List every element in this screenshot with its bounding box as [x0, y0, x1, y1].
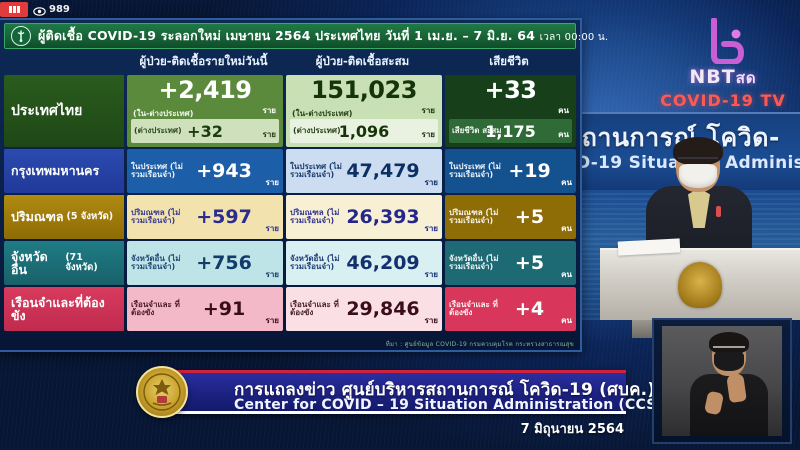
table-row-prisons: เรือนจำและที่ต้องขัง เรือนจำและ ที่ต้องข…	[4, 287, 576, 331]
live-badge	[0, 2, 28, 17]
ministry-health-emblem-icon	[11, 26, 31, 46]
value-other-total: 46,209	[344, 252, 422, 274]
unit-prisons-total: ราย	[422, 314, 438, 329]
presenter-glasses	[678, 157, 718, 164]
cell-other-deaths: จังหวัดอื่น (ไม่รวมเรือนจำ) +5 คน	[445, 241, 576, 285]
cell-thailand-total-bottom: (ต่างประเทศ) 1,096 ราย	[290, 119, 438, 143]
column-header-total-cases: ผู้ป่วย-ติดเชื้อสะสม	[283, 53, 442, 71]
value-other-deaths: +5	[503, 252, 556, 274]
presenter-face-mask	[679, 164, 717, 188]
cell-other-total: จังหวัดอื่น (ไม่รวมเรือนจำ) 46,209 ราย	[286, 241, 442, 285]
lower-third-banner: การแถลงข่าว ศูนย์บริหารสถานการณ์ โควิด-1…	[128, 370, 626, 422]
value-thailand-new: +2,419	[131, 76, 279, 104]
nbt-logo-text: NBTสด	[658, 66, 788, 90]
cell-other-new: จังหวัดอื่น (ไม่รวมเรือนจำ) +756 ราย	[127, 241, 283, 285]
table-row-perimeter: ปริมณฑล (5 จังหวัด) ปริมณฑล (ไม่รวมเรือน…	[4, 195, 576, 239]
podium	[600, 248, 800, 320]
unit-thailand-new: ราย	[263, 104, 276, 117]
view-count-label: 989	[49, 4, 70, 15]
panel-title-time: เวลา 00:00 น.	[540, 32, 609, 43]
cell-prisons-new: เรือนจำและ ที่ต้องขัง +91 ราย	[127, 287, 283, 331]
podium-papers	[618, 238, 681, 255]
sign-language-interpreter-inset	[652, 318, 792, 444]
eye-icon	[33, 3, 46, 16]
unit-prisons-new: ราย	[263, 314, 279, 329]
cell-prisons-total: เรือนจำและ ที่ต้องขัง 29,846 ราย	[286, 287, 442, 331]
row-label-perimeter-note: (5 จังหวัด)	[67, 212, 114, 222]
value-bangkok-total: 47,479	[344, 160, 422, 182]
cell-perimeter-new: ปริมณฑล (ไม่รวมเรือนจำ) +597 ราย	[127, 195, 283, 239]
sublabel-prisons-new: เรือนจำและ ที่ต้องขัง	[131, 301, 185, 318]
broadcast-screen: สถานการณ์ โควิด- VID-19 Situation Admini…	[0, 0, 800, 450]
row-label-thailand: ประเทศไทย	[4, 75, 124, 147]
signer-face-mask	[714, 352, 744, 371]
panel-title-main: ผู้ติดเชื้อ COVID-19 ระลอกใหม่ เมษายน 25…	[38, 28, 535, 43]
value-other-new: +756	[185, 252, 263, 274]
row-label-prisons-text: เรือนจำและที่ต้องขัง	[11, 296, 117, 322]
value-perimeter-total: 26,393	[344, 206, 422, 228]
value-bangkok-deaths: +19	[503, 160, 556, 182]
table-row-other-provinces: จังหวัดอื่น (71 จังหวัด) จังหวัดอื่น (ไม…	[4, 241, 576, 285]
sublabel-thailand-total: (ใน-ต่างประเทศ)	[292, 110, 352, 118]
lower-third-bar: การแถลงข่าว ศูนย์บริหารสถานการณ์ โควิด-1…	[172, 370, 626, 414]
panel-title: ผู้ติดเชื้อ COVID-19 ระลอกใหม่ เมษายน 25…	[38, 26, 608, 46]
cell-thailand-total: 151,023 (ใน-ต่างประเทศ) ราย (ต่างประเทศ)…	[286, 75, 442, 147]
sublabel-perimeter-new: ปริมณฑล (ไม่รวมเรือนจำ)	[131, 209, 185, 226]
value-perimeter-deaths: +5	[503, 206, 556, 228]
row-label-bangkok-text: กรุงเทพมหานคร	[11, 164, 99, 177]
sublabel-other-total: จังหวัดอื่น (ไม่รวมเรือนจำ)	[290, 255, 344, 272]
table-row-thailand: ประเทศไทย +2,419 (ใน-ต่างประเทศ) ราย (ต่…	[4, 75, 576, 147]
value-prisons-deaths: +4	[503, 298, 556, 320]
nbt-mark-icon	[694, 18, 752, 64]
cell-bangkok-deaths: ในประเทศ (ไม่รวมเรือนจำ) +19 คน	[445, 149, 576, 193]
row-label-other-provinces: จังหวัดอื่น (71 จังหวัด)	[4, 241, 124, 285]
covid-statistics-panel: ผู้ติดเชื้อ COVID-19 ระลอกใหม่ เมษายน 25…	[0, 18, 582, 352]
unit-perimeter-new: ราย	[263, 222, 279, 237]
value-thailand-new-abroad: +32	[131, 122, 279, 141]
nbt-logo-suffix: สด	[736, 69, 757, 87]
value-bangkok-new: +943	[185, 160, 263, 182]
column-header-deaths: เสียชีวิต	[442, 53, 576, 71]
unit-bangkok-new: ราย	[263, 176, 279, 191]
cell-thailand-new-top: +2,419 (ใน-ต่างประเทศ) ราย	[131, 77, 279, 119]
row-label-perimeter-text: ปริมณฑล	[11, 210, 64, 223]
cell-thailand-new-bottom: (ต่างประเทศ) +32 ราย	[131, 119, 279, 143]
unit-perimeter-deaths: คน	[556, 222, 572, 237]
cell-thailand-deaths-top: +33 คน	[449, 77, 572, 119]
unit-thailand-total: ราย	[422, 104, 435, 117]
sublabel-bangkok-deaths: ในประเทศ (ไม่รวมเรือนจำ)	[449, 163, 503, 180]
value-thailand-total-abroad: 1,096	[290, 122, 438, 141]
sublabel-perimeter-deaths: ปริมณฑล (ไม่รวมเรือนจำ)	[449, 209, 503, 226]
unit-thailand-deaths-total: คน	[558, 128, 569, 141]
nbt-logo-subtitle: COVID-19 TV	[658, 91, 788, 110]
value-thailand-deaths-total: 1,175	[449, 122, 572, 141]
row-label-perimeter: ปริมณฑล (5 จังหวัด)	[4, 195, 124, 239]
sublabel-prisons-total: เรือนจำและ ที่ต้องขัง	[290, 301, 344, 318]
live-viewer-bar: 989	[0, 2, 70, 17]
sublabel-other-new: จังหวัดอื่น (ไม่รวมเรือนจำ)	[131, 255, 185, 272]
unit-other-total: ราย	[422, 268, 438, 283]
cell-bangkok-new: ในประเทศ (ไม่รวมเรือนจำ) +943 ราย	[127, 149, 283, 193]
value-perimeter-new: +597	[185, 206, 263, 228]
row-label-prisons: เรือนจำและที่ต้องขัง	[4, 287, 124, 331]
unit-bangkok-total: ราย	[422, 176, 438, 191]
sublabel-prisons-deaths: เรือนจำและ ที่ต้องขัง	[449, 301, 503, 318]
row-label-other-provinces-note: (71 จังหวัด)	[65, 253, 117, 273]
unit-thailand-deaths: คน	[558, 104, 569, 117]
unit-bangkok-deaths: คน	[556, 176, 572, 191]
unit-thailand-new-abroad: ราย	[263, 128, 276, 141]
cell-thailand-deaths: +33 คน เสียชีวิต สะสม 1,175 คน	[445, 75, 576, 147]
column-header-new-cases: ผู้ป่วย-ติดเชื้อรายใหม่วันนี้	[124, 53, 283, 71]
sublabel-bangkok-new: ในประเทศ (ไม่รวมเรือนจำ)	[131, 163, 185, 180]
value-thailand-deaths: +33	[449, 76, 572, 104]
cell-prisons-deaths: เรือนจำและ ที่ต้องขัง +4 คน	[445, 287, 576, 331]
row-label-other-provinces-text: จังหวัดอื่น	[11, 250, 62, 276]
presenter-lapel-pin	[716, 206, 721, 217]
value-thailand-total: 151,023	[290, 76, 438, 104]
value-prisons-total: 29,846	[344, 298, 422, 320]
panel-source-note: ที่มา : ศูนย์ข้อมูล COVID-19 กรมควบคุมโร…	[386, 339, 574, 349]
garuda-emblem-icon	[678, 262, 722, 308]
panel-title-bar: ผู้ติดเชื้อ COVID-19 ระลอกใหม่ เมษายน 25…	[4, 23, 576, 49]
table-row-bangkok: กรุงเทพมหานคร ในประเทศ (ไม่รวมเรือนจำ) +…	[4, 149, 576, 193]
sublabel-perimeter-total: ปริมณฑล (ไม่รวมเรือนจำ)	[290, 209, 344, 226]
unit-other-new: ราย	[263, 268, 279, 283]
row-label-bangkok: กรุงเทพมหานคร	[4, 149, 124, 193]
royal-thai-government-seal-icon	[136, 366, 188, 418]
column-header-row: ผู้ป่วย-ติดเชื้อรายใหม่วันนี้ ผู้ป่วย-ติ…	[4, 51, 576, 73]
unit-perimeter-total: ราย	[422, 222, 438, 237]
cell-perimeter-deaths: ปริมณฑล (ไม่รวมเรือนจำ) +5 คน	[445, 195, 576, 239]
view-count-group: 989	[33, 3, 70, 16]
nbt-logo-name: NBT	[689, 66, 735, 88]
unit-thailand-total-abroad: ราย	[422, 128, 435, 141]
lower-third-english-title: Center for COVID – 19 Situation Administ…	[234, 397, 674, 413]
sublabel-other-deaths: จังหวัดอื่น (ไม่รวมเรือนจำ)	[449, 255, 503, 272]
cell-thailand-deaths-bottom: เสียชีวิต สะสม 1,175 คน	[449, 119, 572, 143]
sublabel-thailand-new: (ใน-ต่างประเทศ)	[133, 110, 193, 118]
unit-other-deaths: คน	[556, 268, 572, 283]
value-prisons-new: +91	[185, 298, 263, 320]
sublabel-bangkok-total: ในประเทศ (ไม่รวมเรือนจำ)	[290, 163, 344, 180]
cell-perimeter-total: ปริมณฑล (ไม่รวมเรือนจำ) 26,393 ราย	[286, 195, 442, 239]
nbt-channel-logo: NBTสด COVID-19 TV	[658, 18, 788, 110]
sign-language-video	[662, 326, 782, 436]
unit-prisons-deaths: คน	[556, 314, 572, 329]
cell-thailand-total-top: 151,023 (ใน-ต่างประเทศ) ราย	[290, 77, 438, 119]
cell-thailand-new: +2,419 (ใน-ต่างประเทศ) ราย (ต่างประเทศ) …	[127, 75, 283, 147]
cell-bangkok-total: ในประเทศ (ไม่รวมเรือนจำ) 47,479 ราย	[286, 149, 442, 193]
broadcast-date: 7 มิถุนายน 2564	[521, 418, 624, 439]
